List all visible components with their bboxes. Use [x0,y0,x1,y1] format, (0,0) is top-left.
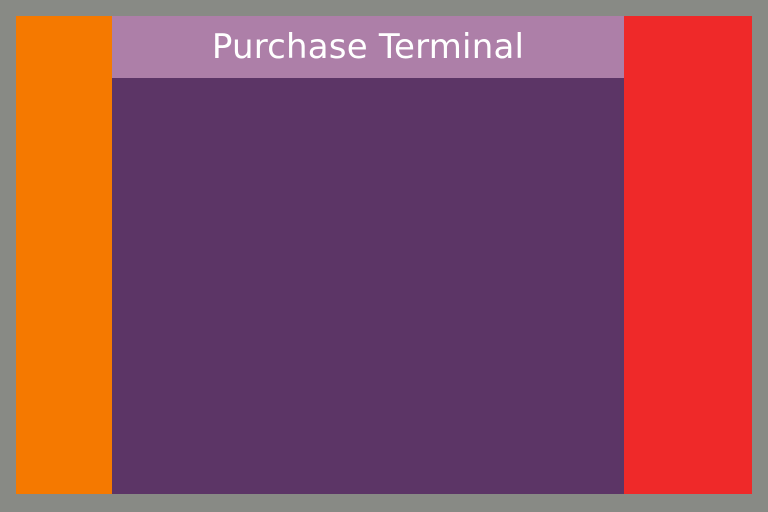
right-accent-panel[interactable] [624,16,752,494]
app-root: Purchase Terminal [0,0,768,512]
left-accent-panel[interactable] [16,16,112,494]
page-title: Purchase Terminal [212,30,524,64]
title-bar: Purchase Terminal [112,16,624,78]
purchase-terminal-window: Purchase Terminal [112,16,624,494]
content-area[interactable] [112,78,624,494]
